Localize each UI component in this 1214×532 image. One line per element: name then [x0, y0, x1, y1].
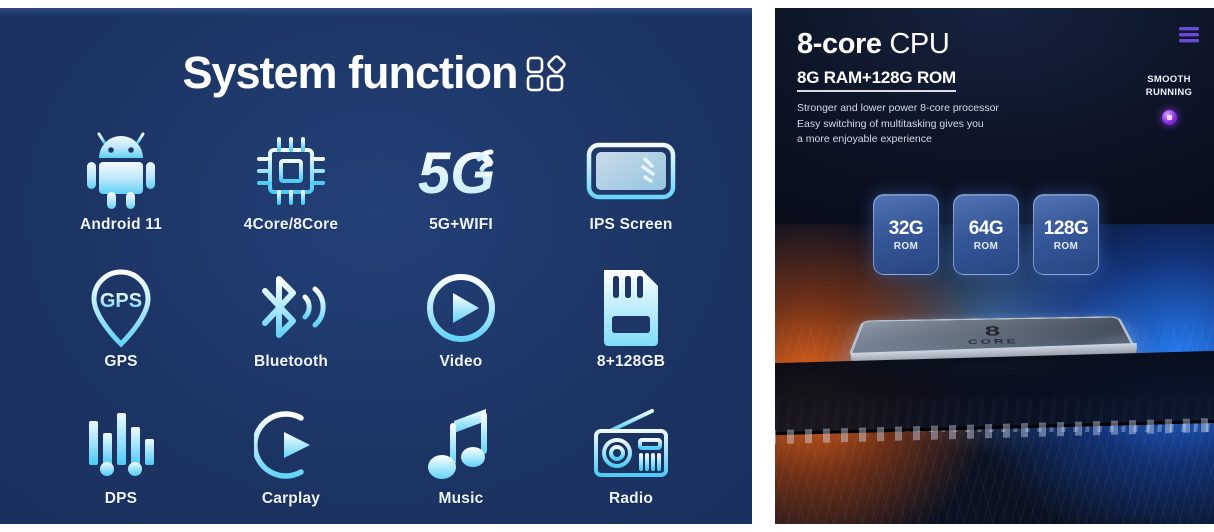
cpu-feature-panel: 8 CORE 8-core CPU 8G RAM+128G ROM Strong…: [775, 8, 1214, 524]
cpu-description-line: a more enjoyable experience: [797, 132, 1087, 148]
feature-label: Video: [440, 353, 483, 371]
feature-item-android[interactable]: Android 11: [36, 130, 206, 267]
cpu-chip-marking: 8 CORE: [968, 325, 1019, 345]
rom-option-card[interactable]: 64G ROM: [953, 194, 1019, 275]
svg-text:5G: 5G: [418, 141, 495, 206]
cpu-chip-word: CORE: [968, 337, 1019, 346]
smooth-running-block: SMOOTH RUNNING: [1136, 26, 1202, 125]
cpu-chip-number: 8: [968, 325, 1018, 337]
feature-label: Music: [439, 490, 484, 508]
feature-item-dps[interactable]: DPS: [36, 404, 206, 524]
cpu-subheadline: 8G RAM+128G ROM: [797, 68, 956, 92]
rom-capacity: 128G: [1044, 218, 1088, 240]
bluetooth-icon: [251, 267, 331, 349]
page-title: System function: [0, 50, 752, 95]
smooth-running-label: SMOOTH RUNNING: [1136, 74, 1202, 100]
smooth-running-line1: SMOOTH: [1136, 74, 1202, 87]
feature-item-5g-wifi[interactable]: 5G 5G+WIFI: [376, 130, 546, 267]
purple-dot-badge-icon: [1162, 110, 1177, 125]
product-banner: System function: [0, 0, 1214, 532]
ips-screen-icon: [585, 130, 677, 212]
cpu-headline: 8-core CPU: [797, 28, 1087, 61]
feature-item-radio[interactable]: Radio: [546, 404, 716, 524]
rom-capacity: 64G: [969, 218, 1003, 240]
feature-label: Radio: [609, 490, 653, 508]
feature-item-gps[interactable]: GPS GPS: [36, 267, 206, 404]
feature-icon-grid: Android 11: [36, 130, 716, 524]
cpu-headline-strong: 8-core: [797, 28, 882, 60]
feature-label: Android 11: [80, 216, 162, 234]
5g-wifi-icon: 5G: [416, 130, 506, 212]
feature-label: 4Core/8Core: [244, 216, 338, 234]
feature-item-music[interactable]: Music: [376, 404, 546, 524]
sd-card-icon: [598, 267, 664, 349]
feature-label: Carplay: [262, 490, 320, 508]
cpu-description-line: Easy switching of multitasking gives you: [797, 117, 1087, 133]
feature-item-cpu[interactable]: 4Core/8Core: [206, 130, 376, 267]
video-play-icon: [424, 267, 498, 349]
android-robot-icon: [86, 130, 156, 212]
gps-pin-icon: GPS: [87, 267, 155, 349]
feature-item-storage[interactable]: 8+128GB: [546, 267, 716, 404]
rom-option-card[interactable]: 128G ROM: [1033, 194, 1099, 275]
feature-item-bluetooth[interactable]: Bluetooth: [206, 267, 376, 404]
music-note-icon: [428, 404, 494, 486]
cpu-description: Stronger and lower power 8-core processo…: [797, 101, 1087, 148]
equalizer-icon: [83, 404, 159, 486]
cpu-headline-block: 8-core CPU 8G RAM+128G ROM Stronger and …: [797, 28, 1087, 148]
feature-label: 8+128GB: [597, 353, 665, 371]
feature-label: Bluetooth: [254, 353, 328, 371]
feature-label: IPS Screen: [590, 216, 673, 234]
rom-unit: ROM: [974, 241, 999, 252]
carplay-icon: [254, 404, 328, 486]
rom-options-row: 32G ROM 64G ROM 128G ROM: [873, 194, 1099, 275]
feature-item-carplay[interactable]: Carplay: [206, 404, 376, 524]
rom-option-card[interactable]: 32G ROM: [873, 194, 939, 275]
feature-label: 5G+WIFI: [429, 216, 493, 234]
system-function-panel: System function: [0, 8, 752, 524]
cpu-headline-light: CPU: [889, 28, 949, 60]
feature-item-video[interactable]: Video: [376, 267, 546, 404]
cpu-chip-icon: [255, 130, 327, 212]
page-title-text: System function: [182, 50, 517, 95]
feature-label: DPS: [105, 490, 137, 508]
stack-lines-icon[interactable]: [1178, 26, 1200, 44]
feature-label: GPS: [104, 353, 137, 371]
cpu-description-line: Stronger and lower power 8-core processo…: [797, 101, 1087, 117]
grid-apps-icon: [526, 54, 570, 94]
rom-unit: ROM: [894, 241, 919, 252]
smooth-running-line2: RUNNING: [1136, 87, 1202, 100]
rom-capacity: 32G: [889, 218, 923, 240]
rom-unit: ROM: [1054, 241, 1079, 252]
svg-text:GPS: GPS: [100, 290, 142, 312]
radio-icon: [590, 404, 672, 486]
feature-item-ips-screen[interactable]: IPS Screen: [546, 130, 716, 267]
